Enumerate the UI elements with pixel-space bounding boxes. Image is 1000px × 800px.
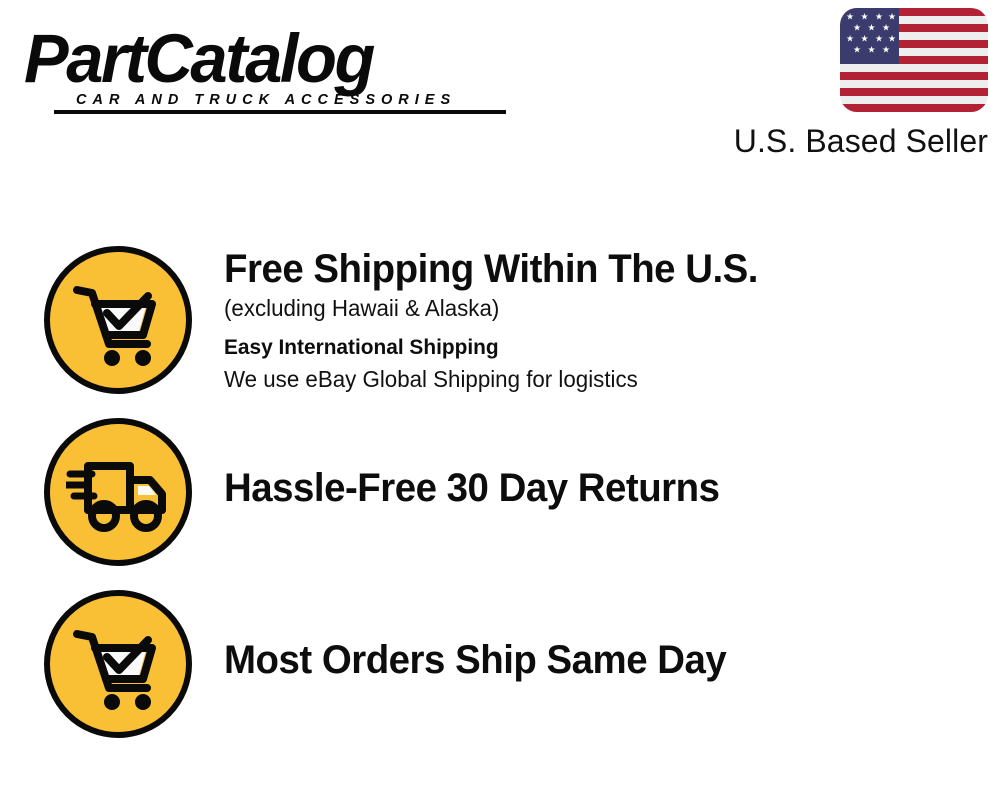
shopping-cart-check-icon <box>44 590 192 738</box>
shipping-info-banner: PartCatalog CAR AND TRUCK ACCESSORIES ★ … <box>0 0 1000 800</box>
feature-text-block: Free Shipping Within The U.S. (excluding… <box>224 246 780 395</box>
shopping-cart-check-icon <box>44 246 192 394</box>
partcatalog-logo: PartCatalog CAR AND TRUCK ACCESSORIES <box>24 24 494 112</box>
feature-row: Hassle-Free 30 Day Returns <box>44 418 740 566</box>
feature-secondary-title: Easy International Shipping <box>224 332 764 363</box>
us-based-seller-label: U.S. Based Seller <box>718 123 988 160</box>
feature-text-block: Hassle-Free 30 Day Returns <box>224 418 740 511</box>
brand-wordmark: PartCatalog <box>24 24 480 94</box>
us-based-seller-badge: ★ ★ ★ ★ ★ ★ ★ ★ ★ ★ ★ ★ ★ ★ U.S. Based S… <box>718 8 988 160</box>
feature-text-block: Most Orders Ship Same Day <box>224 590 747 683</box>
feature-title: Hassle-Free 30 Day Returns <box>224 465 719 511</box>
flag-canton: ★ ★ ★ ★ ★ ★ ★ ★ ★ ★ ★ ★ ★ ★ <box>840 8 899 64</box>
delivery-truck-icon <box>44 418 192 566</box>
feature-secondary-subtitle: We use eBay Global Shipping for logistic… <box>224 363 764 395</box>
feature-title: Free Shipping Within The U.S. <box>224 246 758 292</box>
feature-row: Most Orders Ship Same Day <box>44 590 747 738</box>
us-flag-icon: ★ ★ ★ ★ ★ ★ ★ ★ ★ ★ ★ ★ ★ ★ <box>840 8 988 112</box>
feature-title: Most Orders Ship Same Day <box>224 637 726 683</box>
feature-row: Free Shipping Within The U.S. (excluding… <box>44 246 780 395</box>
feature-subtitle: (excluding Hawaii & Alaska) <box>224 292 764 324</box>
brand-underline-rule <box>54 110 506 114</box>
